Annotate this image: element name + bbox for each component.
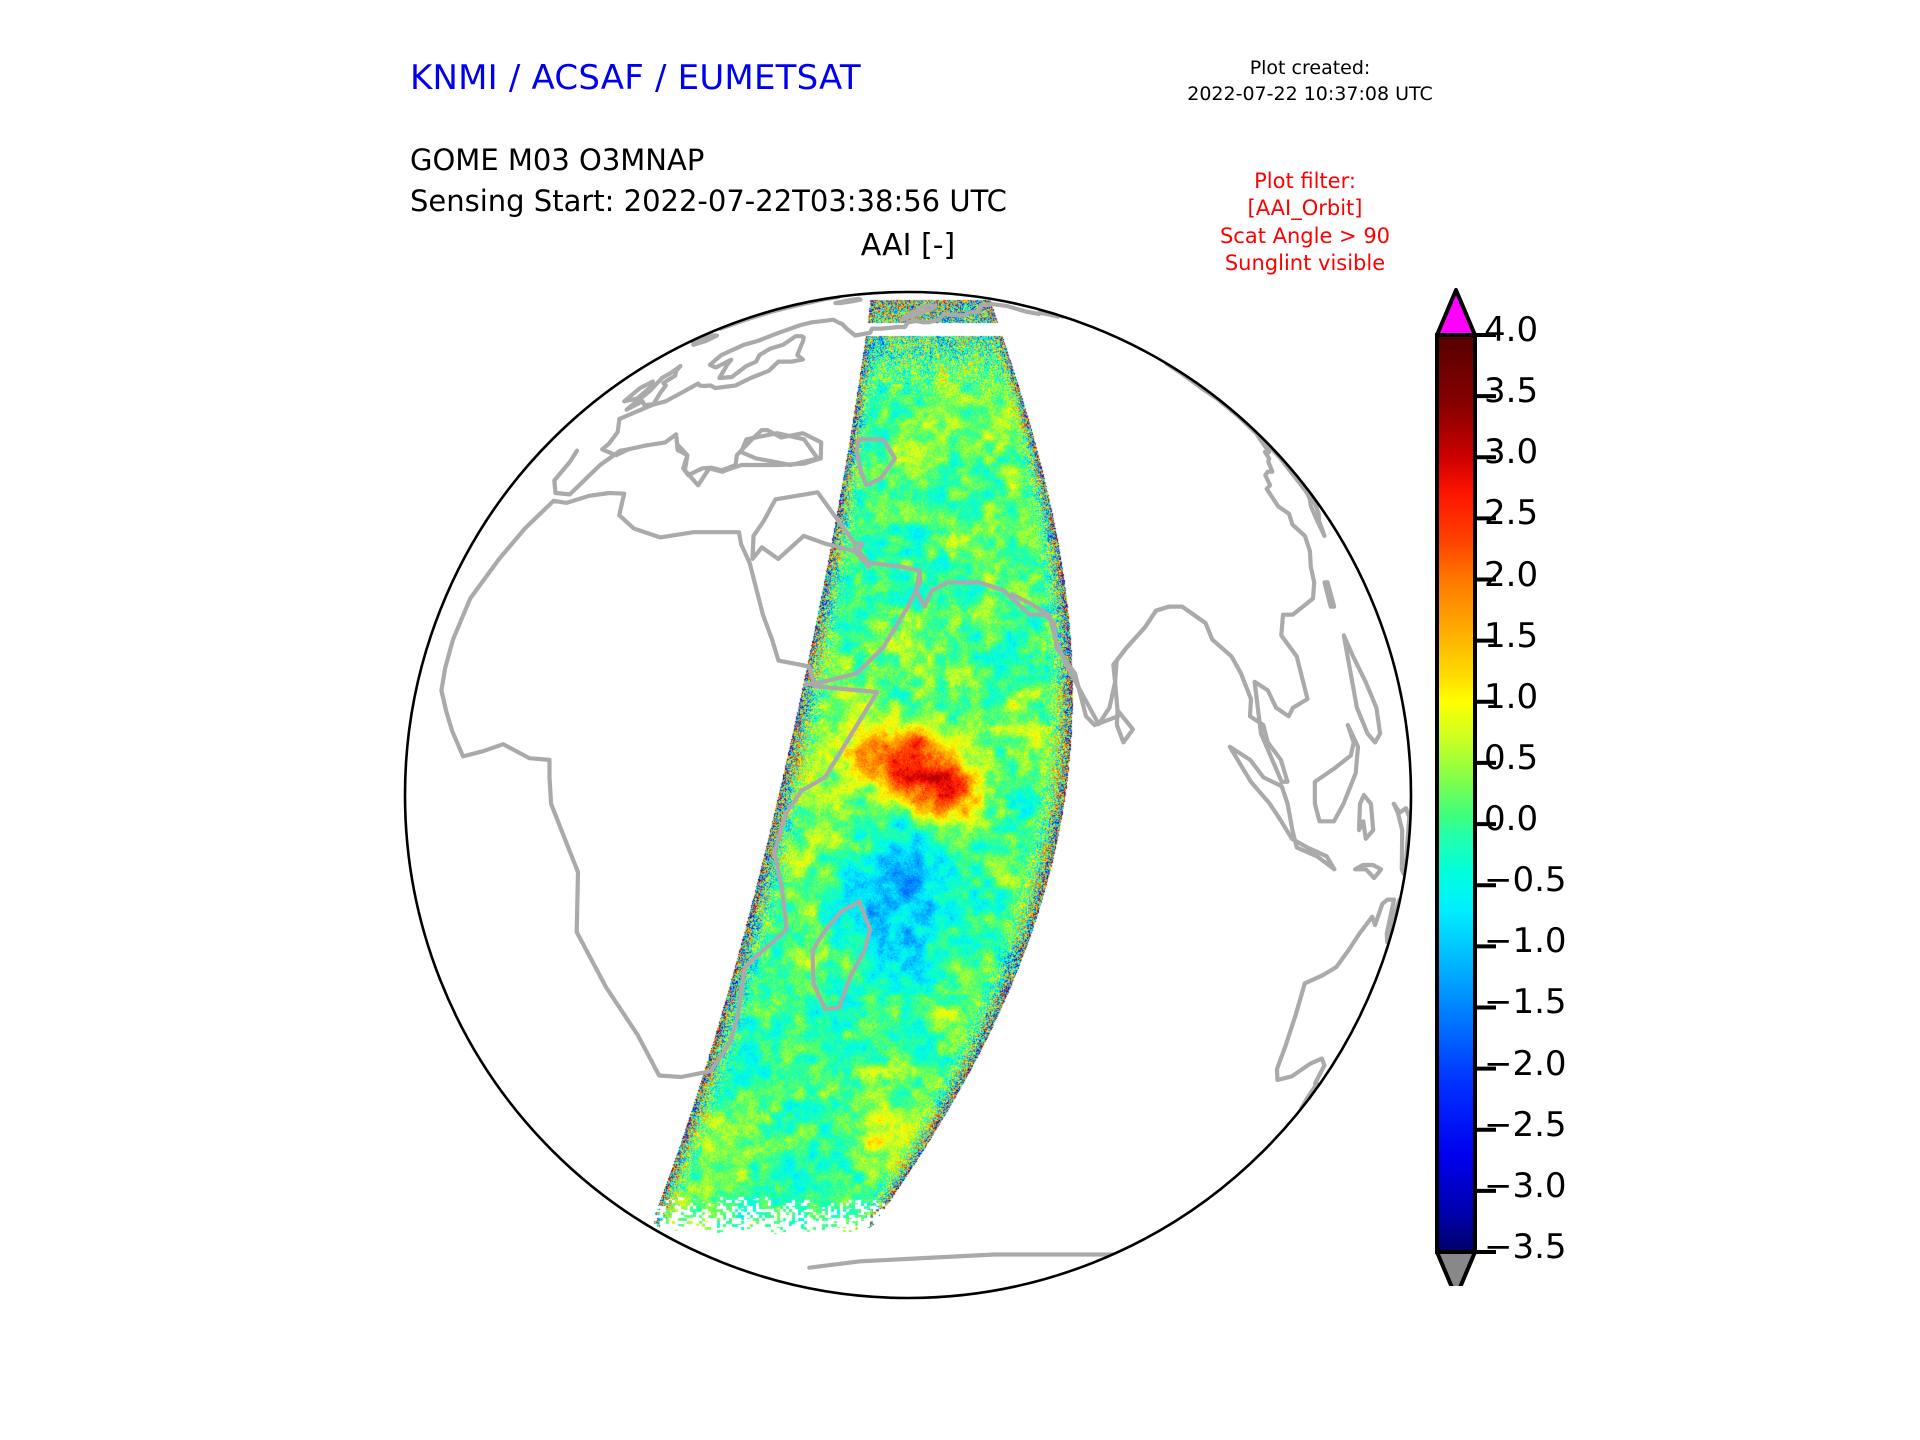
colorbar-tick-label: 3.5 bbox=[1484, 374, 1538, 408]
colorbar-tick-label: −3.0 bbox=[1484, 1169, 1567, 1203]
colorbar-tick-label: −3.5 bbox=[1484, 1230, 1567, 1264]
colorbar-tick-label: −0.5 bbox=[1484, 863, 1567, 897]
colorbar: 4.03.53.02.52.01.51.00.50.0−0.5−1.0−1.5−… bbox=[1424, 276, 1654, 1286]
colorbar-tick-label: −2.0 bbox=[1484, 1047, 1567, 1081]
colorbar-over-range-arrow bbox=[1437, 290, 1475, 335]
colorbar-tick-label: 0.0 bbox=[1484, 802, 1538, 836]
colorbar-tick-label: 4.0 bbox=[1484, 313, 1538, 347]
colorbar-tick-label: 0.5 bbox=[1484, 741, 1538, 775]
colorbar-tick-label: 1.5 bbox=[1484, 619, 1538, 653]
colorbar-tick-label: 2.5 bbox=[1484, 496, 1538, 530]
colorbar-tick-label: −1.0 bbox=[1484, 924, 1567, 958]
colorbar-under-range-arrow bbox=[1437, 1252, 1475, 1286]
colorbar-tick-label: 2.0 bbox=[1484, 558, 1538, 592]
colorbar-tick-label: 1.0 bbox=[1484, 680, 1538, 714]
colorbar-tick-label: −2.5 bbox=[1484, 1108, 1567, 1142]
colorbar-gradient bbox=[1437, 335, 1475, 1252]
colorbar-tick-label: 3.0 bbox=[1484, 435, 1538, 469]
colorbar-tick-label: −1.5 bbox=[1484, 985, 1567, 1019]
